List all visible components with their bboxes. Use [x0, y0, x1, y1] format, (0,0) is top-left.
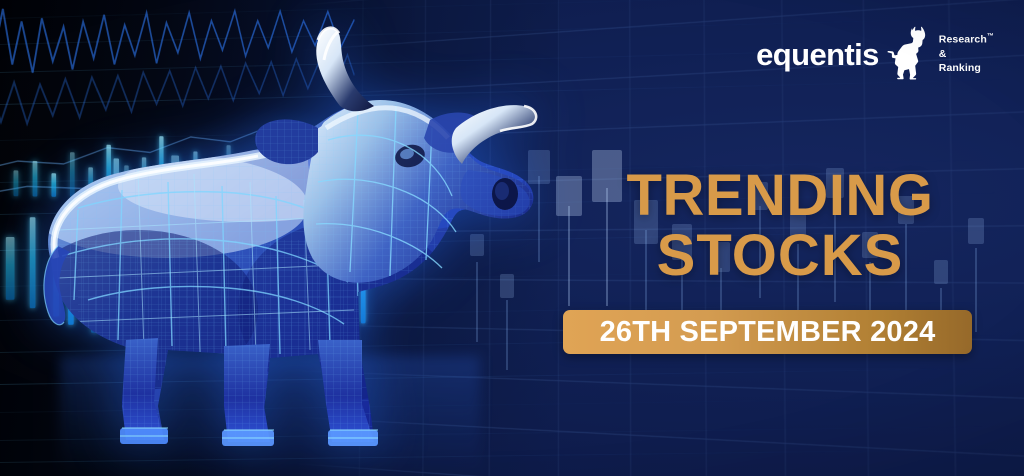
- logo-tagline: Research™ & Ranking: [939, 32, 994, 75]
- date-badge-text: 26TH SEPTEMBER 2024: [600, 318, 936, 347]
- bull-logo-icon: [887, 26, 931, 82]
- logo-tagline-research: Research: [939, 34, 987, 46]
- logo-tagline-ranking: Ranking: [939, 62, 994, 76]
- trademark-symbol: ™: [987, 33, 994, 40]
- wireframe-bull-illustration: [18, 10, 578, 476]
- trending-stocks-banner: equentis Research™ & Ranking TRENDING ST…: [0, 0, 1024, 476]
- logo-tagline-ampersand: &: [939, 48, 994, 62]
- date-badge: 26TH SEPTEMBER 2024: [563, 310, 972, 354]
- title-line-trending: TRENDING: [565, 166, 995, 226]
- title-line-stocks: STOCKS: [565, 226, 995, 286]
- page-title: TRENDING STOCKS: [565, 166, 995, 285]
- logo-wordmark: equentis: [756, 39, 879, 70]
- equentis-logo[interactable]: equentis Research™ & Ranking: [756, 26, 994, 82]
